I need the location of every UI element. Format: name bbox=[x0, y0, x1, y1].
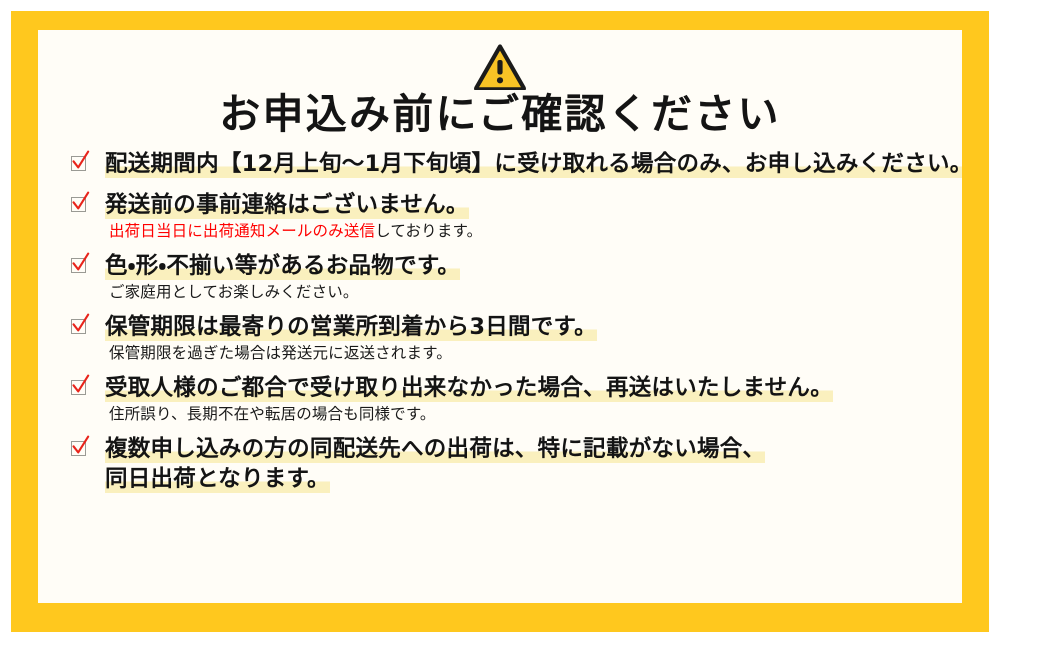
highlighted-text: 色・形・不揃い等があるお品物です。 bbox=[105, 253, 460, 280]
checked-checkbox-icon bbox=[71, 197, 86, 212]
checked-checkbox-icon bbox=[71, 319, 86, 334]
highlighted-text: 発送前の事前連絡はございません。 bbox=[105, 192, 469, 219]
list-item-sub-text: 住所誤り、長期不在や転居の場合も同様です。 bbox=[105, 403, 962, 425]
notice-panel: お申込み前にご確認ください 配送期間内【12月上旬〜1月下旬頃】に受け取れる場合… bbox=[38, 30, 962, 603]
checked-checkbox-icon bbox=[71, 258, 86, 273]
list-item-main-text-line2: 同日出荷となります。 bbox=[77, 464, 962, 494]
checked-checkbox-icon bbox=[71, 380, 86, 395]
sub-text-black-part: 保管期限を過ぎた場合は発送元に返送されます。 bbox=[109, 344, 452, 362]
list-item-main-text: 複数申し込みの方の同配送先への出荷は、特に記載がない場合、 bbox=[105, 434, 962, 464]
list-item: 受取人様のご都合で受け取り出来なかった場合、再送はいたしません。 住所誤り、長期… bbox=[71, 373, 962, 425]
list-item-sub-text: 出荷日当日に出荷通知メールのみ送信しております。 bbox=[105, 220, 962, 242]
highlighted-text: 配送期間内【12月上旬〜1月下旬頃】に受け取れる場合のみ、お申し込みください。 bbox=[105, 151, 962, 178]
sub-text-red-part: 出荷日当日に出荷通知メールのみ送信 bbox=[109, 222, 375, 240]
list-item-main-text: 配送期間内【12月上旬〜1月下旬頃】に受け取れる場合のみ、お申し込みください。 bbox=[105, 149, 962, 179]
highlighted-text: 同日出荷となります。 bbox=[105, 466, 330, 493]
highlighted-text: 保管期限は最寄りの営業所到着から3日間です。 bbox=[105, 314, 597, 341]
page-title: お申込み前にご確認ください bbox=[38, 91, 962, 138]
list-item-sub-text: ご家庭用としてお楽しみください。 bbox=[105, 281, 962, 303]
list-item: 配送期間内【12月上旬〜1月下旬頃】に受け取れる場合のみ、お申し込みください。 bbox=[71, 149, 962, 179]
list-item: 発送前の事前連絡はございません。 出荷日当日に出荷通知メールのみ送信しております… bbox=[71, 190, 962, 242]
list-item: 保管期限は最寄りの営業所到着から3日間です。 保管期限を過ぎた場合は発送元に返送… bbox=[71, 312, 962, 364]
sub-text-black-part: ご家庭用としてお楽しみください。 bbox=[109, 283, 359, 301]
notice-checklist: 配送期間内【12月上旬〜1月下旬頃】に受け取れる場合のみ、お申し込みください。 … bbox=[38, 149, 962, 494]
checked-checkbox-icon bbox=[71, 156, 86, 171]
list-item-main-text: 受取人様のご都合で受け取り出来なかった場合、再送はいたしません。 bbox=[105, 373, 962, 403]
highlighted-text: 受取人様のご都合で受け取り出来なかった場合、再送はいたしません。 bbox=[105, 375, 833, 402]
notice-header: お申込み前にご確認ください bbox=[38, 30, 962, 138]
highlighted-text: 複数申し込みの方の同配送先への出荷は、特に記載がない場合、 bbox=[105, 436, 765, 463]
sub-text-black-part: 住所誤り、長期不在や転居の場合も同様です。 bbox=[109, 405, 436, 423]
list-item-main-text: 発送前の事前連絡はございません。 bbox=[105, 190, 962, 220]
warning-triangle-icon bbox=[474, 44, 526, 90]
list-item-sub-text: 保管期限を過ぎた場合は発送元に返送されます。 bbox=[105, 342, 962, 364]
list-item: 色・形・不揃い等があるお品物です。 ご家庭用としてお楽しみください。 bbox=[71, 251, 962, 303]
list-item: 複数申し込みの方の同配送先への出荷は、特に記載がない場合、 同日出荷となります。 bbox=[71, 434, 962, 494]
list-item-main-text: 保管期限は最寄りの営業所到着から3日間です。 bbox=[105, 312, 962, 342]
checked-checkbox-icon bbox=[71, 441, 86, 456]
list-item-main-text: 色・形・不揃い等があるお品物です。 bbox=[105, 251, 962, 281]
sub-text-black-part: しております。 bbox=[375, 222, 482, 240]
notice-card-frame: お申込み前にご確認ください 配送期間内【12月上旬〜1月下旬頃】に受け取れる場合… bbox=[11, 11, 989, 632]
